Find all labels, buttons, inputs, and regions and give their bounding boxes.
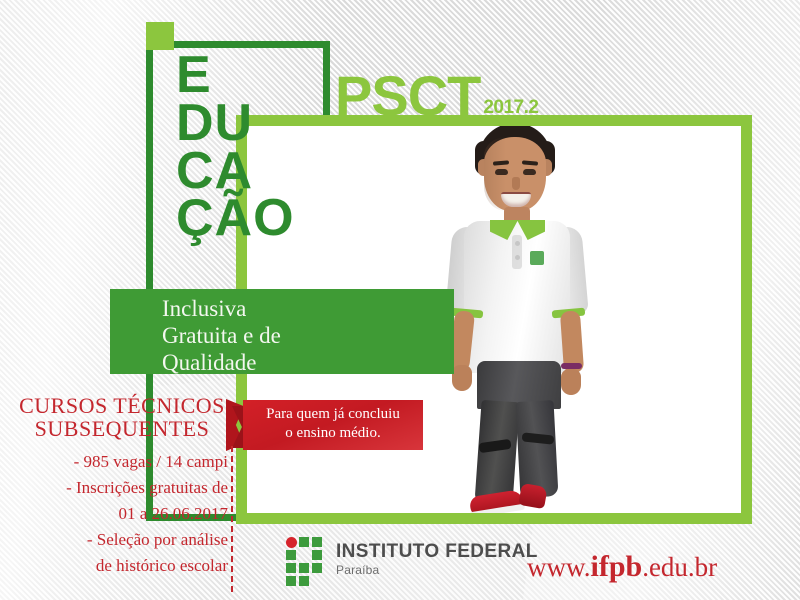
ribbon-text: Para quem já concluiu o ensino médio.: [253, 405, 413, 443]
ifpb-logo-mark-icon: [286, 537, 326, 582]
offer-copy-block: CURSOS TÉCNICOS SUBSEQUENTES - 985 vagas…: [16, 394, 228, 578]
offer-heading-line-2: SUBSEQUENTES: [16, 417, 228, 440]
exam-year: 2017.2: [483, 97, 538, 119]
ifpb-logo: INSTITUTO FEDERAL Paraíba: [286, 537, 538, 582]
logo-square: [286, 550, 296, 560]
exam-title-group: PSCT 2017.2: [335, 68, 538, 124]
headline-line-4: ÇÃO: [176, 195, 376, 243]
slogan-line-3: Qualidade: [162, 350, 281, 377]
offer-bullet-2: - Inscrições gratuitas de: [16, 475, 228, 501]
student-eye-left: [495, 169, 508, 175]
logo-title: INSTITUTO FEDERAL: [336, 542, 538, 562]
website-prefix: www.: [527, 552, 591, 582]
logo-subtitle: Paraíba: [336, 564, 538, 577]
logo-red-dot: [286, 537, 297, 548]
ribbon-line-2: o ensino médio.: [253, 424, 413, 443]
slogan-line-2: Gratuita e de: [162, 323, 281, 350]
website-brand: ifpb: [591, 550, 643, 583]
slogan-box: Inclusiva Gratuita e de Qualidade: [110, 289, 454, 374]
logo-square: [312, 550, 322, 560]
logo-square: [299, 537, 309, 547]
website-suffix: .edu.br: [642, 552, 717, 582]
student-nose: [512, 177, 520, 190]
student-hand-right: [561, 369, 581, 395]
slogan-text: Inclusiva Gratuita e de Qualidade: [162, 296, 281, 377]
website-url[interactable]: www.ifpb.edu.br: [527, 550, 717, 584]
student-hand-left: [452, 365, 472, 391]
student-eye-right: [523, 169, 536, 175]
offer-bullet-3: 01 a 26.06.2017: [16, 501, 228, 527]
logo-square: [312, 537, 322, 547]
offer-bullet-1: - 985 vagas / 14 campi: [16, 449, 228, 475]
polo-button-top: [515, 241, 520, 246]
poster-canvas: E DU CA ÇÃO PSCT 2017.2 Inclusiva Gratui…: [0, 0, 800, 600]
dashed-divider: [231, 446, 233, 592]
polo-chest-logo: [530, 251, 544, 265]
logo-square: [312, 563, 322, 573]
slogan-line-1: Inclusiva: [162, 296, 281, 323]
offer-heading: CURSOS TÉCNICOS SUBSEQUENTES: [16, 394, 228, 440]
student-leg-right: [516, 400, 559, 498]
ribbon-line-1: Para quem já concluiu: [253, 405, 413, 424]
offer-heading-line-1: CURSOS TÉCNICOS: [16, 394, 228, 417]
exam-name: PSCT: [335, 68, 480, 124]
offer-bullet-4: - Seleção por análise: [16, 527, 228, 553]
offer-bullets: - 985 vagas / 14 campi - Inscrições grat…: [16, 449, 228, 578]
light-green-corner-square: [146, 22, 174, 50]
polo-button-bottom: [515, 255, 520, 260]
logo-square: [299, 576, 309, 586]
student-bracelet: [561, 363, 582, 369]
offer-bullet-5: de histórico escolar: [16, 553, 228, 579]
logo-square: [286, 576, 296, 586]
logo-square: [299, 563, 309, 573]
logo-square: [286, 563, 296, 573]
ifpb-logo-wordmark: INSTITUTO FEDERAL Paraíba: [336, 542, 538, 577]
